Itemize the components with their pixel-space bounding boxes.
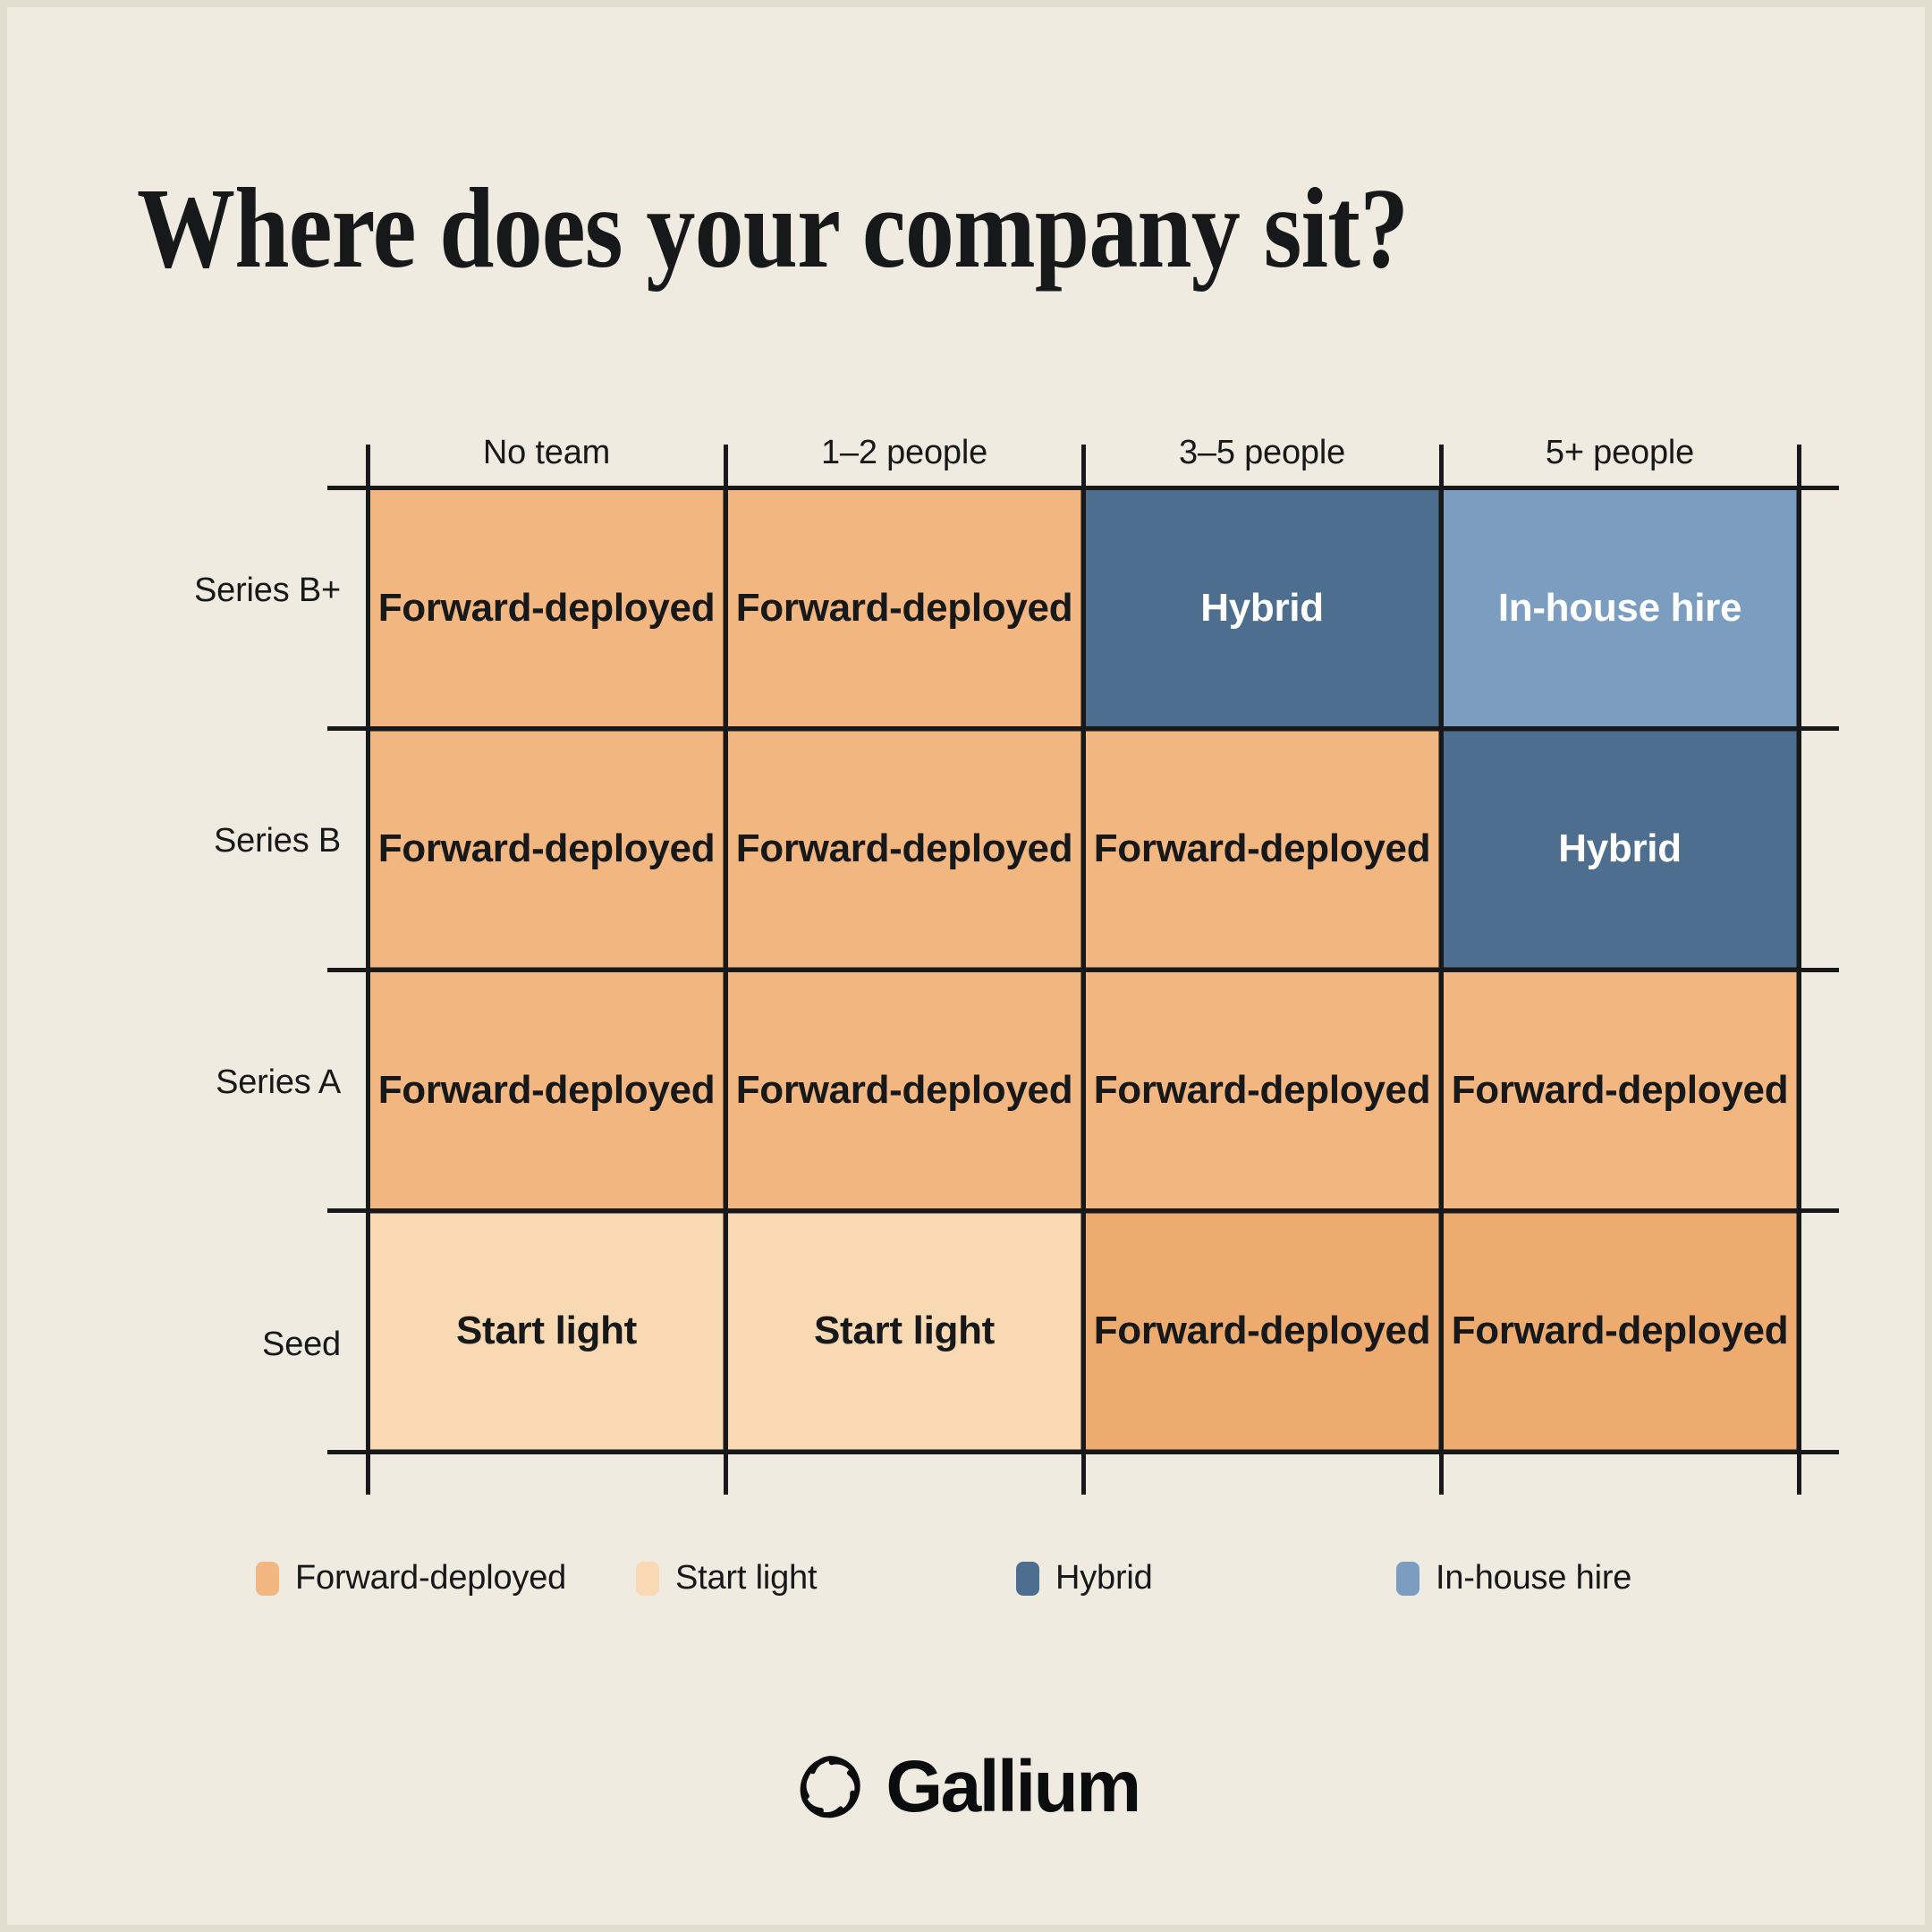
matrix-cell-label: deployed [1260, 1065, 1431, 1115]
matrix-cell-label: Forward- [1094, 824, 1260, 874]
legend-item[interactable]: In-house hire [1396, 1559, 1631, 1597]
legend-label: In-house hire [1436, 1559, 1631, 1597]
matrix-cell-label: Forward- [736, 1065, 902, 1115]
legend-item[interactable]: Hybrid [1016, 1559, 1396, 1597]
brand-logo: Gallium [7, 1750, 1925, 1825]
matrix-cell[interactable]: Forward-deployed [1083, 1211, 1441, 1453]
matrix-cell-label: Forward- [378, 583, 545, 633]
matrix-cell[interactable]: Forward-deployed [725, 970, 1083, 1211]
matrix-cell[interactable]: Forward-deployed [368, 970, 725, 1211]
legend-label: Forward-deployed [295, 1559, 566, 1597]
grid-horizontal-line [327, 968, 1839, 972]
matrix-cell[interactable]: Forward-deployed [1083, 970, 1441, 1211]
chart-legend: Forward-deployedStart lightHybridIn-hous… [256, 1559, 1705, 1597]
matrix-cell-label: deployed [902, 1065, 1073, 1115]
matrix-chart: Forward-deployedForward-deployedHybridIn… [368, 487, 1799, 1452]
matrix-cell-label: deployed [1618, 1065, 1789, 1115]
row-label: Series B+ [46, 572, 341, 610]
matrix-cell-label: deployed [545, 1065, 716, 1115]
matrix-cell-label: Forward- [378, 1065, 545, 1115]
column-header: 1–2 people [725, 434, 1083, 472]
legend-swatch [1396, 1562, 1419, 1596]
matrix-cell[interactable]: Forward-deployed [725, 729, 1083, 970]
matrix-cell-label: deployed [1260, 1306, 1431, 1356]
matrix-cell[interactable]: Start light [725, 1211, 1083, 1453]
matrix-cell-label: deployed [545, 824, 716, 874]
matrix-cell-label: In-house hire [1498, 583, 1741, 633]
matrix-cell-label: Start light [456, 1306, 637, 1356]
gallium-wreath-icon [792, 1750, 868, 1825]
legend-label: Hybrid [1055, 1559, 1153, 1597]
grid-horizontal-line [327, 726, 1839, 731]
matrix-cell-label: deployed [545, 583, 716, 633]
legend-swatch [636, 1562, 659, 1596]
column-header: No team [368, 434, 725, 472]
matrix-cell-label: Forward- [1452, 1306, 1618, 1356]
legend-swatch [1016, 1562, 1039, 1596]
legend-swatch [256, 1562, 279, 1596]
matrix-cell-label: Forward- [736, 824, 902, 874]
column-header: 5+ people [1441, 434, 1799, 472]
row-label: Seed [46, 1326, 341, 1364]
matrix-cell-label: Hybrid [1558, 824, 1682, 874]
row-label: Series A [46, 1063, 341, 1102]
matrix-cell-label: Start light [814, 1306, 995, 1356]
matrix-cell[interactable]: In-house hire [1441, 487, 1799, 729]
matrix-cell[interactable]: Start light [368, 1211, 725, 1453]
legend-item[interactable]: Start light [636, 1559, 1016, 1597]
legend-item[interactable]: Forward-deployed [256, 1559, 636, 1597]
matrix-cell[interactable]: Forward-deployed [368, 487, 725, 729]
matrix-cell-label: Forward- [1452, 1065, 1618, 1115]
matrix-cell-label: Forward- [1094, 1306, 1260, 1356]
page-title: Where does your company sit? [137, 171, 1408, 285]
matrix-cell-label: deployed [1618, 1306, 1789, 1356]
grid-horizontal-line [327, 486, 1839, 490]
page-canvas: Where does your company sit? No team1–2 … [7, 7, 1925, 1925]
row-label: Series B [46, 822, 341, 860]
matrix-cell-label: Forward- [736, 583, 902, 633]
matrix-cell[interactable]: Forward-deployed [1083, 729, 1441, 970]
matrix-cell-label: deployed [902, 583, 1073, 633]
matrix-cell-label: deployed [902, 824, 1073, 874]
matrix-cell[interactable]: Hybrid [1083, 487, 1441, 729]
matrix-cell-label: Forward- [378, 824, 545, 874]
matrix-cell[interactable]: Forward-deployed [1441, 1211, 1799, 1453]
matrix-cell[interactable]: Forward-deployed [725, 487, 1083, 729]
matrix-cell[interactable]: Forward-deployed [1441, 970, 1799, 1211]
brand-wordmark: Gallium [885, 1750, 1139, 1824]
matrix-cell-label: deployed [1260, 824, 1431, 874]
column-header: 3–5 people [1083, 434, 1441, 472]
grid-horizontal-line [327, 1208, 1839, 1213]
matrix-cell-label: Hybrid [1200, 583, 1324, 633]
grid-horizontal-line [327, 1450, 1839, 1454]
matrix-cell-label: Forward- [1094, 1065, 1260, 1115]
matrix-cell[interactable]: Hybrid [1441, 729, 1799, 970]
matrix-cell[interactable]: Forward-deployed [368, 729, 725, 970]
legend-label: Start light [675, 1559, 817, 1597]
